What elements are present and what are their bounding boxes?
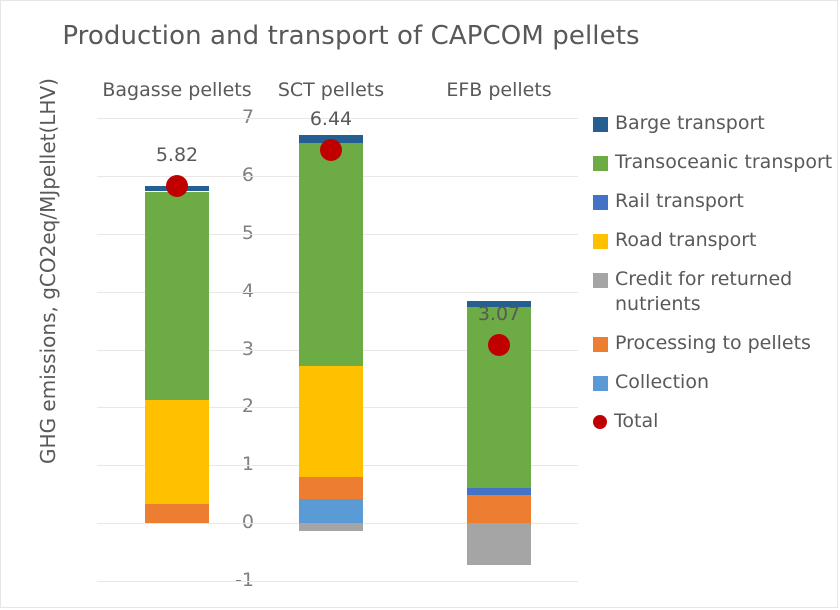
legend-swatch-icon [593,273,608,288]
legend-label: Processing to pellets [615,331,811,356]
bar-segment[interactable] [145,504,209,523]
bar-segment[interactable] [299,143,363,366]
total-value-label: 6.44 [271,108,391,130]
gridline [97,581,578,582]
category-label: SCT pellets [241,79,421,101]
category-label: Bagasse pellets [87,79,267,101]
legend-swatch-icon [593,195,608,210]
legend-item[interactable]: Processing to pellets [593,331,839,356]
bar-segment[interactable] [299,499,363,523]
legend-dot-icon [593,415,607,429]
legend-label: Barge transport [615,111,765,136]
legend-item[interactable]: Collection [593,370,839,395]
bar-segment[interactable] [299,523,363,531]
legend-label: Road transport [615,228,757,253]
bar-stack[interactable] [299,118,363,581]
legend-item[interactable]: Rail transport [593,189,839,214]
legend-swatch-icon [593,234,608,249]
bar-segment[interactable] [299,477,363,499]
legend-label: Collection [615,370,709,395]
category-label: EFB pellets [409,79,589,101]
bar-segment[interactable] [467,488,531,495]
legend: Barge transportTransoceanic transportRai… [593,111,839,448]
legend-swatch-icon [593,156,608,171]
plot-area: 5.826.443.07 [97,118,578,581]
legend-swatch-icon [593,117,608,132]
y-axis-title: GHG emissions, gCO2eq/MJpellet(LHV) [36,56,60,486]
bar-segment[interactable] [467,523,531,565]
legend-label: Credit for returned nutrients [615,267,839,317]
bar-segment[interactable] [299,366,363,477]
chart-title: Production and transport of CAPCOM pelle… [1,21,701,51]
bar-segment[interactable] [145,400,209,504]
legend-item[interactable]: Barge transport [593,111,839,136]
bar-segment[interactable] [145,192,209,401]
legend-label: Rail transport [615,189,744,214]
legend-label: Transoceanic transport [615,150,832,175]
legend-item[interactable]: Transoceanic transport [593,150,839,175]
total-value-label: 5.82 [117,144,237,166]
legend-swatch-icon [593,376,608,391]
legend-item[interactable]: Road transport [593,228,839,253]
legend-item[interactable]: Total [593,409,839,434]
legend-item[interactable]: Credit for returned nutrients [593,267,839,317]
chart-container: Production and transport of CAPCOM pelle… [0,0,838,608]
total-value-label: 3.07 [439,303,559,325]
bar-segment[interactable] [467,495,531,523]
legend-label: Total [614,409,658,434]
legend-swatch-icon [593,337,608,352]
